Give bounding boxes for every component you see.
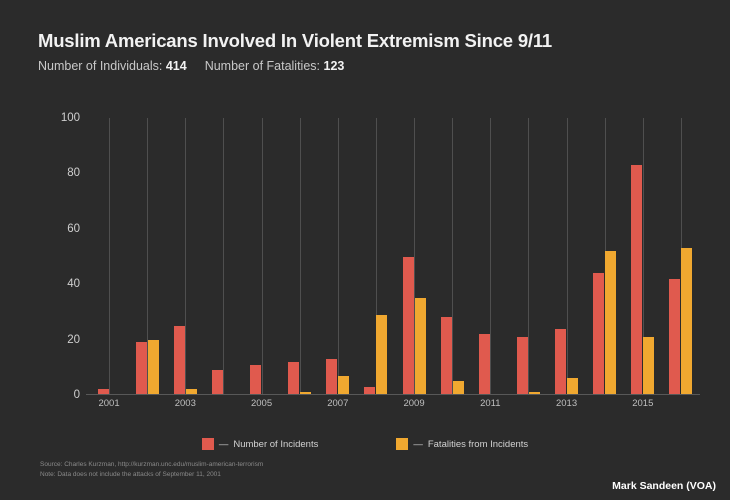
bar-2004-incidents[interactable] (212, 370, 223, 395)
bar-2008-fatalities[interactable] (376, 315, 387, 395)
chart-legend: — Number of Incidents — Fatalities from … (0, 438, 730, 450)
bar-group-2010 (433, 118, 471, 395)
y-axis-tick-40: 40 (67, 278, 80, 290)
x-axis-tick-2005: 2005 (243, 398, 281, 414)
bar-2013-fatalities[interactable] (567, 378, 578, 395)
bar-group-2014 (586, 118, 624, 395)
x-axis-tick-2009: 2009 (395, 398, 433, 414)
legend-swatch-fatalities-icon (396, 438, 408, 450)
x-axis-tick-2013: 2013 (548, 398, 586, 414)
x-axis-tick-2007: 2007 (319, 398, 357, 414)
legend-item-fatalities[interactable]: — Fatalities from Incidents (396, 438, 528, 450)
bar-2016-incidents[interactable] (669, 279, 680, 395)
bar-2014-fatalities[interactable] (605, 251, 616, 395)
bar-2009-fatalities[interactable] (415, 298, 426, 395)
plot-area (90, 118, 700, 395)
bar-2010-incidents[interactable] (441, 317, 452, 395)
bar-group-2005 (243, 118, 281, 395)
y-axis-tick-20: 20 (67, 334, 80, 346)
legend-dash: — (219, 439, 229, 450)
x-axis-tick-2001: 2001 (90, 398, 128, 414)
bar-2015-fatalities[interactable] (643, 337, 654, 395)
source-note: Source: Charles Kurzman, http://kurzman.… (40, 460, 263, 470)
legend-label-incidents: Number of Incidents (233, 439, 318, 450)
footnotes: Source: Charles Kurzman, http://kurzman.… (40, 460, 263, 480)
bar-group-2002 (128, 118, 166, 395)
legend-label-fatalities: Fatalities from Incidents (428, 439, 528, 450)
bar-group-2004 (204, 118, 242, 395)
bar-group-2008 (357, 118, 395, 395)
legend-item-incidents[interactable]: — Number of Incidents (202, 438, 319, 450)
x-axis-tick-2015: 2015 (624, 398, 662, 414)
chart-plot-wrapper: 020406080100 200120022003200420052006200… (38, 118, 700, 408)
y-axis-tick-0: 0 (74, 389, 80, 401)
bar-group-2003 (166, 118, 204, 395)
bar-2011-incidents[interactable] (479, 334, 490, 395)
x-axis-tick-2011: 2011 (471, 398, 509, 414)
individuals-value: 414 (166, 59, 187, 73)
bar-2003-incidents[interactable] (174, 326, 185, 395)
bar-2013-incidents[interactable] (555, 329, 566, 395)
bar-2002-fatalities[interactable] (148, 340, 159, 395)
y-axis-tick-100: 100 (61, 112, 80, 124)
bar-group-2001 (90, 118, 128, 395)
y-axis-tick-60: 60 (67, 223, 80, 235)
x-axis-tick-2003: 2003 (166, 398, 204, 414)
bar-group-2016 (662, 118, 700, 395)
legend-dash: — (413, 439, 423, 450)
credit-byline: Mark Sandeen (VOA) (612, 480, 716, 492)
y-axis-tick-80: 80 (67, 167, 80, 179)
bar-group-2006 (281, 118, 319, 395)
bar-2015-incidents[interactable] (631, 165, 642, 395)
fatalities-value: 123 (324, 59, 345, 73)
bar-group-2009 (395, 118, 433, 395)
legend-swatch-incidents-icon (202, 438, 214, 450)
bar-2002-incidents[interactable] (136, 342, 147, 395)
fatalities-label: Number of Fatalities: (205, 59, 320, 73)
chart-header: Muslim Americans Involved In Violent Ext… (38, 30, 698, 73)
y-axis: 020406080100 (38, 118, 86, 408)
data-note: Note: Data does not include the attacks … (40, 470, 263, 480)
bar-series-container (90, 118, 700, 395)
x-axis: 2001200220032004200520062007200820092010… (90, 398, 700, 414)
bar-2005-incidents[interactable] (250, 365, 261, 395)
bar-2016-fatalities[interactable] (681, 248, 692, 395)
bar-2006-incidents[interactable] (288, 362, 299, 395)
page-title: Muslim Americans Involved In Violent Ext… (38, 30, 698, 52)
bar-2010-fatalities[interactable] (453, 381, 464, 395)
bar-group-2011 (471, 118, 509, 395)
bar-group-2007 (319, 118, 357, 395)
x-axis-baseline (86, 394, 700, 395)
bar-group-2013 (548, 118, 586, 395)
bar-2014-incidents[interactable] (593, 273, 604, 395)
bar-2007-fatalities[interactable] (338, 376, 349, 395)
bar-2007-incidents[interactable] (326, 359, 337, 395)
summary-stats: Number of Individuals: 414 Number of Fat… (38, 59, 698, 73)
bar-2009-incidents[interactable] (403, 257, 414, 396)
bar-group-2012 (509, 118, 547, 395)
bar-group-2015 (624, 118, 662, 395)
individuals-label: Number of Individuals: (38, 59, 162, 73)
bar-2012-incidents[interactable] (517, 337, 528, 395)
